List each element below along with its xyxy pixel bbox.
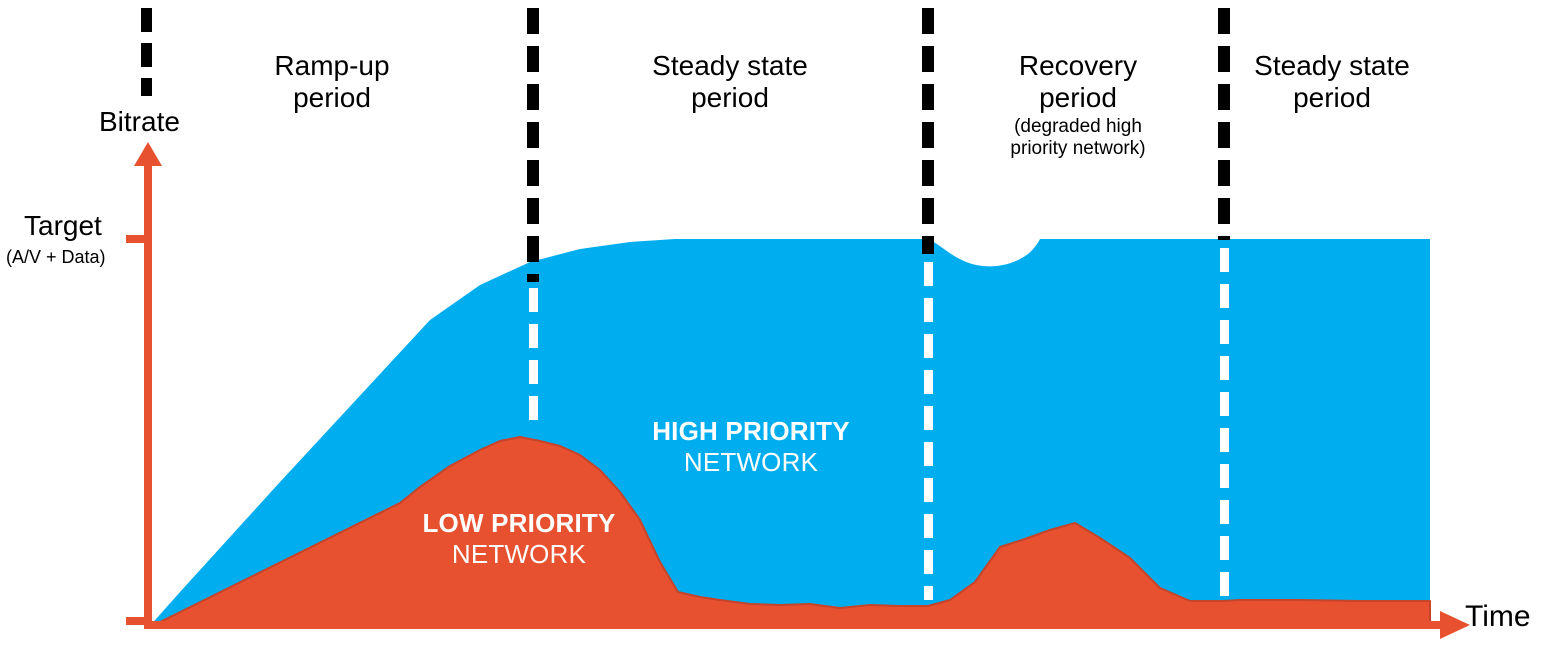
x-axis-label: Time bbox=[1465, 600, 1531, 633]
y-axis-label: Bitrate bbox=[99, 107, 180, 138]
y-axis bbox=[134, 142, 162, 629]
low-priority-label-line2: NETWORK bbox=[398, 539, 640, 570]
low-priority-label-line1: LOW PRIORITY bbox=[398, 508, 640, 539]
phase-title: Steady state period bbox=[1254, 50, 1410, 113]
high-priority-label-line1: HIGH PRIORITY bbox=[630, 416, 872, 447]
low-priority-network-label: LOW PRIORITY NETWORK bbox=[398, 508, 640, 570]
diagram-canvas: Ramp-up period Steady state period Recov… bbox=[0, 0, 1545, 655]
phase-subtitle: (degraded high priority network) bbox=[958, 116, 1198, 160]
y-axis-origin-tick bbox=[126, 617, 150, 625]
phase-label-recovery: Recovery period (degraded high priority … bbox=[958, 18, 1198, 191]
y-axis-target-tick bbox=[126, 235, 150, 243]
phase-title: Recovery period bbox=[1019, 50, 1137, 113]
y-axis-target-label: Target bbox=[24, 211, 102, 242]
phase-label-steady-state-1: Steady state period bbox=[610, 18, 850, 114]
high-priority-label-line2: NETWORK bbox=[630, 447, 872, 478]
phase-title: Ramp-up period bbox=[274, 50, 389, 113]
high-priority-network-label: HIGH PRIORITY NETWORK bbox=[630, 416, 872, 478]
phase-label-ramp-up: Ramp-up period bbox=[212, 18, 452, 114]
phase-label-steady-state-2: Steady state period bbox=[1212, 18, 1452, 114]
y-axis-target-sublabel: (A/V + Data) bbox=[6, 248, 106, 268]
phase-divider-1 bbox=[141, 8, 152, 96]
phase-title: Steady state period bbox=[652, 50, 808, 113]
